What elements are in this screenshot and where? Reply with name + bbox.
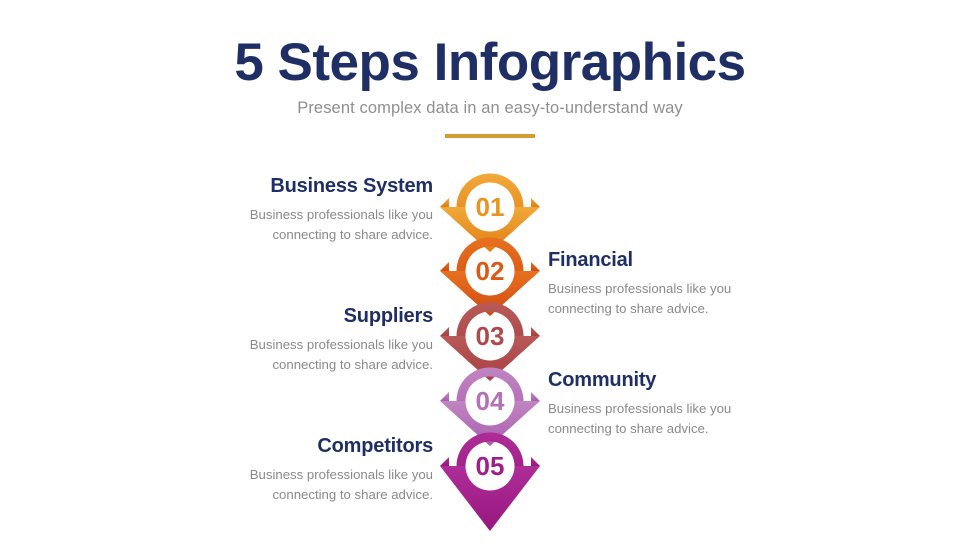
page-title: 5 Steps Infographics xyxy=(0,0,980,91)
step-text-04: Community Business professionals like yo… xyxy=(548,368,798,438)
step-heading-01: Business System xyxy=(183,174,433,198)
step-number-01: 01 xyxy=(476,192,505,222)
page-subtitle: Present complex data in an easy-to-under… xyxy=(0,91,980,118)
step-description-02: Business professionals like you connecti… xyxy=(548,272,798,318)
step-text-02: Financial Business professionals like yo… xyxy=(548,248,798,318)
step-heading-03: Suppliers xyxy=(183,304,433,328)
step-text-05: Competitors Business professionals like … xyxy=(183,434,433,504)
step-heading-02: Financial xyxy=(548,248,798,272)
step-description-01: Business professionals like you connecti… xyxy=(183,198,433,244)
step-description-03: Business professionals like you connecti… xyxy=(183,328,433,374)
step-text-01: Business System Business professionals l… xyxy=(183,174,433,244)
step-number-05: 05 xyxy=(476,451,505,481)
step-heading-05: Competitors xyxy=(183,434,433,458)
step-description-05: Business professionals like you connecti… xyxy=(183,458,433,504)
accent-divider xyxy=(445,134,535,138)
step-number-02: 02 xyxy=(476,256,505,286)
step-heading-04: Community xyxy=(548,368,798,392)
step-description-04: Business professionals like you connecti… xyxy=(548,392,798,438)
step-number-03: 03 xyxy=(476,321,505,351)
step-number-04: 04 xyxy=(476,386,505,416)
arrow-chain-graphic: 01 02 03 xyxy=(0,160,980,551)
step-text-03: Suppliers Business professionals like yo… xyxy=(183,304,433,374)
step-marker-05[interactable]: 05 xyxy=(440,433,540,532)
header: 5 Steps Infographics Present complex dat… xyxy=(0,0,980,138)
steps-diagram: 01 02 03 xyxy=(0,160,980,551)
